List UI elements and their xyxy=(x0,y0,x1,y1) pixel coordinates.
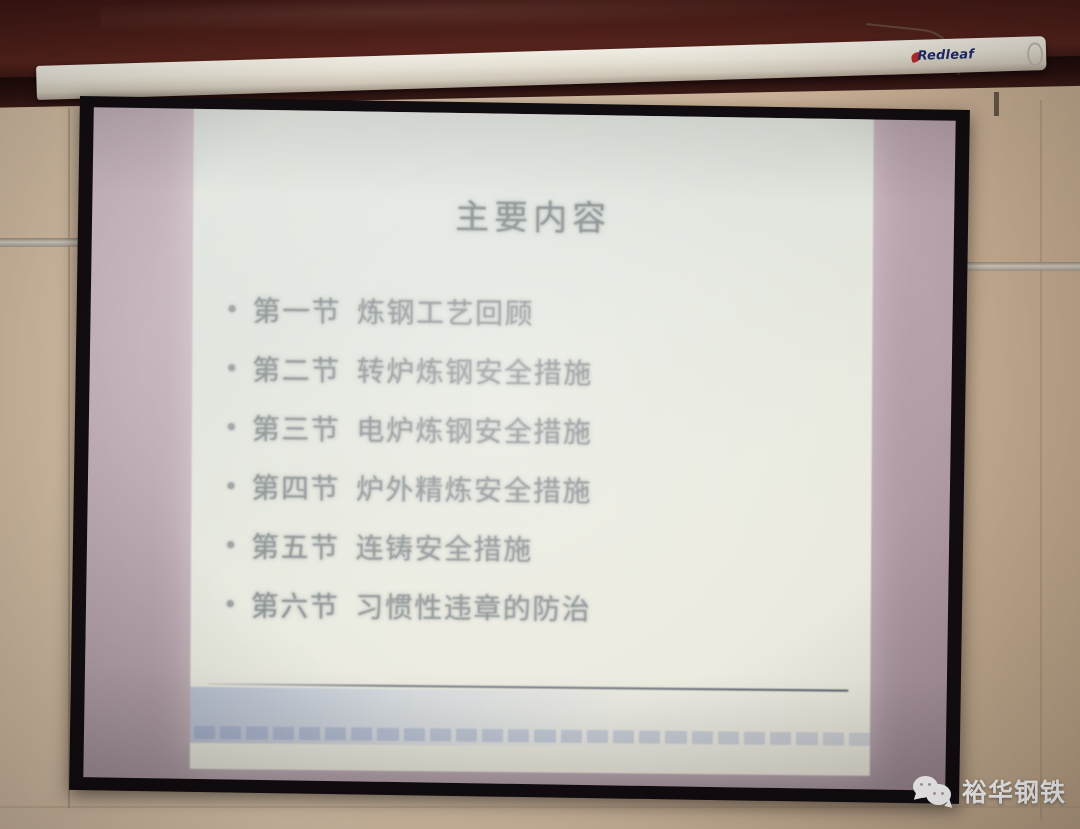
list-item-label: 转炉炼钢安全措施 xyxy=(357,349,593,391)
slide-footer-dash xyxy=(692,731,713,744)
slide-footer-dash xyxy=(351,727,372,740)
photo-scene: Redleaf 主要内容 第一节 炼钢工艺回顾 第二节 xyxy=(0,0,1080,829)
slide-footer-dash xyxy=(508,729,529,742)
list-item: 第六节 习惯性违章的防治 xyxy=(227,574,847,639)
slide-footer-dash xyxy=(639,730,660,743)
list-item-section: 第三节 xyxy=(252,407,341,448)
bullet-dot-icon xyxy=(227,541,234,548)
projection-area: 主要内容 第一节 炼钢工艺回顾 第二节 转炉炼钢安全措施 第三节 xyxy=(83,107,955,790)
roller-brand-label: Redleaf xyxy=(917,47,974,64)
list-item: 第四节 炉外精炼安全措施 xyxy=(227,456,847,521)
list-item-section: 第四节 xyxy=(251,466,340,507)
bullet-dot-icon xyxy=(228,364,235,371)
list-item: 第三节 电炉炼钢安全措施 xyxy=(228,397,848,462)
list-item-label: 电炉炼钢安全措施 xyxy=(356,408,592,450)
list-item-label: 连铸安全措施 xyxy=(356,526,533,568)
slide-footer-dash xyxy=(430,728,451,741)
slide-title: 主要内容 xyxy=(193,187,873,243)
roller-mount-bracket xyxy=(994,92,999,116)
bullet-dot-icon xyxy=(229,305,236,312)
slide-footer-dash xyxy=(665,731,686,744)
list-item-label: 炼钢工艺回顾 xyxy=(357,290,534,332)
slide-footer-dash xyxy=(796,732,817,745)
watermark-label: 裕华钢铁 xyxy=(962,773,1066,809)
list-item-label: 炉外精炼安全措施 xyxy=(356,467,592,509)
slide-footer-dash xyxy=(273,727,294,740)
wechat-bubble-front-tail xyxy=(943,799,952,810)
slide-footer-dash xyxy=(718,731,739,744)
slide-footer-dash xyxy=(613,730,634,743)
slide-bullet-list: 第一节 炼钢工艺回顾 第二节 转炉炼钢安全措施 第三节 电炉炼钢安全措施 xyxy=(227,279,849,639)
slide-footer-dash xyxy=(246,726,267,739)
list-item-label: 习惯性违章的防治 xyxy=(355,585,591,627)
bullet-dot-icon xyxy=(227,482,234,489)
bullet-dot-icon xyxy=(227,600,234,607)
roller-end-cap-icon xyxy=(1027,42,1044,66)
slide-footer-dash xyxy=(194,726,215,739)
projector-screen-frame: 主要内容 第一节 炼钢工艺回顾 第二节 转炉炼钢安全措施 第三节 xyxy=(69,96,970,804)
wechat-icon xyxy=(913,774,953,808)
list-item: 第一节 炼钢工艺回顾 xyxy=(228,279,848,344)
presentation-slide: 主要内容 第一节 炼钢工艺回顾 第二节 转炉炼钢安全措施 第三节 xyxy=(190,109,874,776)
list-item: 第二节 转炉炼钢安全措施 xyxy=(228,338,848,403)
slide-footer-dash xyxy=(770,732,791,745)
list-item: 第五节 连铸安全措施 xyxy=(227,515,847,580)
list-item-section: 第二节 xyxy=(252,348,341,389)
slide-footer-dash xyxy=(456,729,477,742)
slide-footer-dash xyxy=(377,728,398,741)
slide-footer-dash xyxy=(822,732,843,745)
bullet-dot-icon xyxy=(228,423,235,430)
slide-footer-dash xyxy=(849,733,870,746)
slide-footer-dash xyxy=(403,728,424,741)
slide-footer-dash xyxy=(325,727,346,740)
list-item-section: 第五节 xyxy=(251,525,340,566)
slide-footer-dash xyxy=(561,730,582,743)
slide-footer-dash xyxy=(744,732,765,745)
slide-footer-dash xyxy=(299,727,320,740)
slide-footer-dash xyxy=(482,729,503,742)
wechat-bubble-back-tail xyxy=(914,791,923,802)
list-item-section: 第一节 xyxy=(252,289,341,330)
wood-panel-sheen xyxy=(100,0,861,36)
wall-panel-seam-right xyxy=(1040,100,1042,820)
slide-footer-dash xyxy=(534,729,555,742)
list-item-section: 第六节 xyxy=(251,584,340,625)
slide-footer-dash xyxy=(220,726,241,739)
slide-footer-dash xyxy=(587,730,608,743)
watermark: 裕华钢铁 xyxy=(913,773,1066,809)
wall-metal-strip-right xyxy=(964,262,1080,271)
